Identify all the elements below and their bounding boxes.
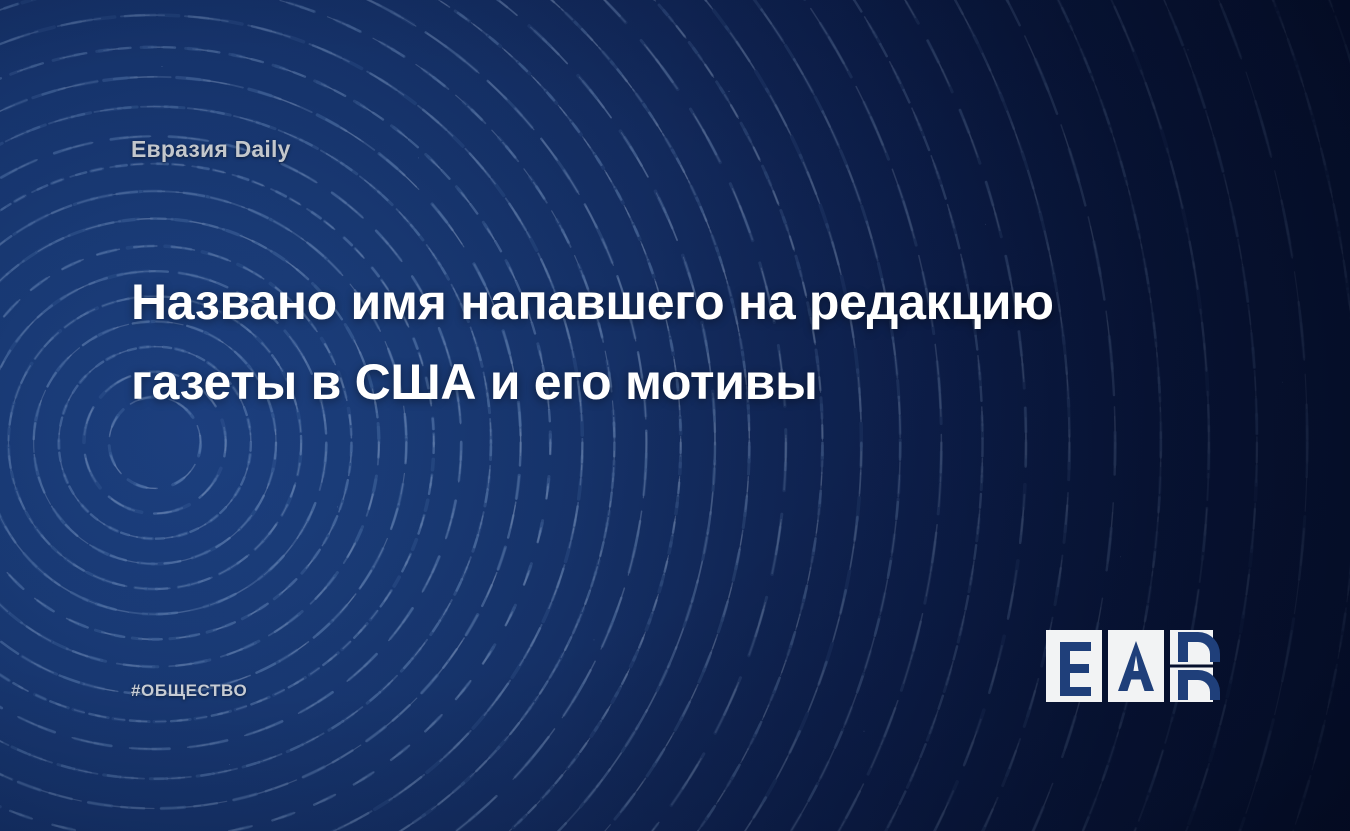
logo-tile-a [1108, 630, 1164, 702]
logo-letter-d-stem-bottom [1178, 670, 1188, 700]
page-title: Названо имя напавшего на редакцию газеты… [131, 262, 1161, 422]
ead-logo[interactable] [1046, 630, 1220, 702]
category-tag[interactable]: #ОБЩЕСТВО [131, 681, 247, 701]
logo-letter-e [1060, 642, 1091, 696]
card-content: Евразия Daily Названо имя напавшего на р… [0, 0, 1350, 831]
news-share-card: Евразия Daily Названо имя напавшего на р… [0, 0, 1350, 831]
logo-letter-d-stem-top [1178, 632, 1188, 662]
brand-name: Евразия Daily [131, 136, 291, 163]
